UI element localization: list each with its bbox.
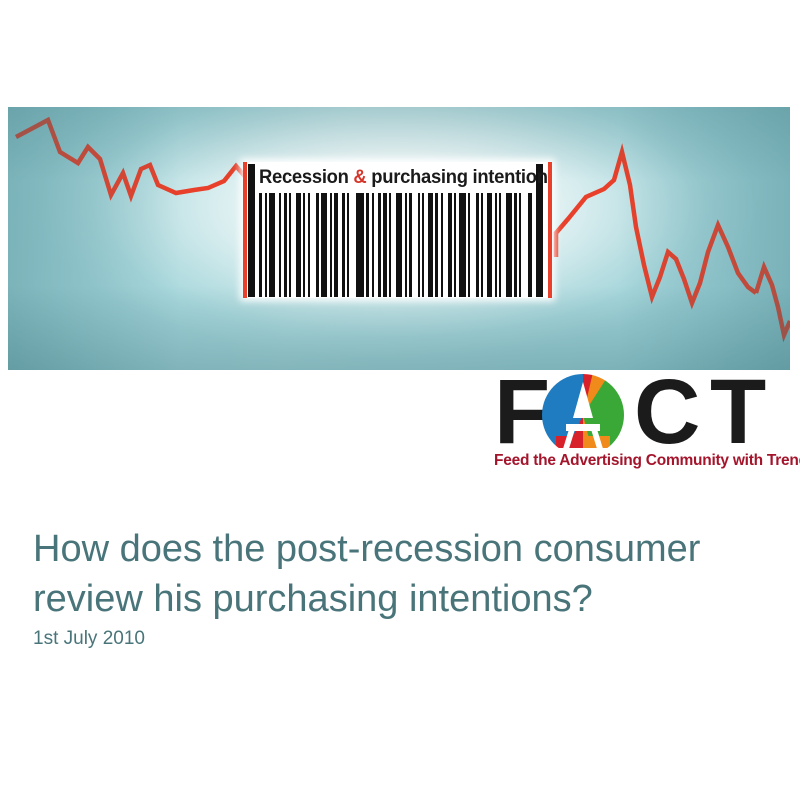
barcode-graphic: Recession & purchasing intention bbox=[235, 162, 560, 298]
barcode-bar bbox=[409, 193, 412, 297]
barcode-bar bbox=[459, 193, 466, 297]
barcode-guard-bar-left bbox=[248, 164, 255, 297]
barcode-red-rule-right bbox=[548, 162, 552, 298]
page-title: How does the post-recession consumer rev… bbox=[33, 524, 763, 624]
barcode-bar bbox=[519, 193, 521, 297]
barcode-bar bbox=[259, 193, 262, 297]
barcode-bar bbox=[308, 193, 310, 297]
barcode-bar bbox=[330, 193, 332, 297]
barcode-bar bbox=[428, 193, 433, 297]
trendline-right-tail bbox=[756, 267, 790, 335]
barcode-bar bbox=[389, 193, 391, 297]
barcode-bar bbox=[383, 193, 387, 297]
barcode-bar bbox=[372, 193, 374, 297]
barcode-bar bbox=[316, 193, 319, 297]
fact-logo-letter-t: T bbox=[710, 372, 764, 452]
barcode-title-prefix: Recession bbox=[259, 167, 353, 188]
fact-logo: F bbox=[492, 372, 792, 477]
barcode-bar bbox=[356, 193, 364, 297]
fact-logo-letter-f: F bbox=[494, 372, 548, 452]
barcode-bar bbox=[289, 193, 291, 297]
barcode-bar bbox=[342, 193, 345, 297]
barcode-bar bbox=[269, 193, 275, 297]
barcode-bar bbox=[347, 193, 349, 297]
barcode-title-ampersand: & bbox=[353, 167, 366, 188]
barcode-bar bbox=[454, 193, 456, 297]
barcode-bar bbox=[366, 193, 369, 297]
barcode-bar bbox=[405, 193, 407, 297]
slide-date: 1st July 2010 bbox=[33, 628, 145, 650]
barcode-bar bbox=[321, 193, 327, 297]
barcode-bar bbox=[435, 193, 438, 297]
fact-logo-letters: F bbox=[492, 372, 792, 452]
trendline-right-rise bbox=[556, 152, 756, 303]
barcode-bar bbox=[334, 193, 338, 297]
barcode-bar bbox=[279, 193, 281, 297]
barcode-bar bbox=[396, 193, 402, 297]
barcode-bar bbox=[506, 193, 512, 297]
barcode-bar bbox=[528, 193, 532, 297]
barcode-red-rule-left bbox=[243, 162, 247, 298]
fact-logo-letter-a-icon bbox=[542, 374, 624, 456]
barcode-bars bbox=[259, 193, 533, 297]
fact-logo-tagline: Feed the Advertising Community with Tren… bbox=[494, 452, 792, 470]
barcode-bar bbox=[378, 193, 381, 297]
barcode-bar bbox=[481, 193, 483, 297]
barcode-bar bbox=[296, 193, 301, 297]
barcode-bar bbox=[265, 193, 267, 297]
barcode-bar bbox=[418, 193, 420, 297]
barcode-bar bbox=[441, 193, 443, 297]
barcode-title-suffix: purchasing intention bbox=[366, 167, 547, 188]
barcode-bar bbox=[514, 193, 517, 297]
barcode-bar bbox=[487, 193, 492, 297]
barcode-bar bbox=[448, 193, 452, 297]
barcode-title: Recession & purchasing intention bbox=[259, 165, 529, 191]
barcode-bar bbox=[495, 193, 497, 297]
barcode-bar bbox=[499, 193, 501, 297]
barcode-bar bbox=[284, 193, 287, 297]
barcode-bar bbox=[303, 193, 305, 297]
fact-logo-letter-c: C bbox=[634, 372, 698, 452]
barcode-bar bbox=[468, 193, 470, 297]
barcode-bar bbox=[422, 193, 424, 297]
barcode-bar bbox=[476, 193, 479, 297]
